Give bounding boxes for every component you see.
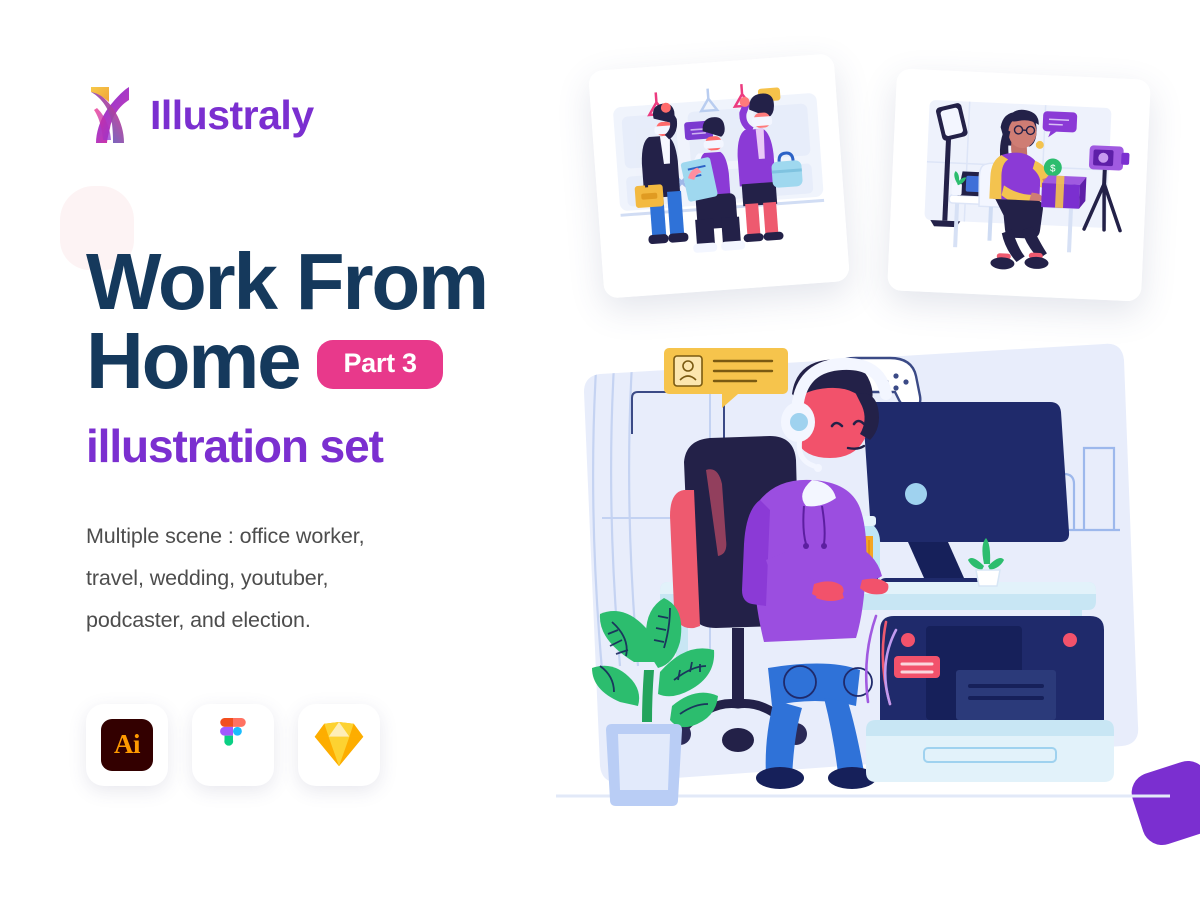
poster-canvas: Illustraly Work From Home Part 3 illustr… [0, 0, 1200, 900]
illustraly-logo-mark-icon [86, 84, 134, 146]
headline-line-2: Home [86, 321, 299, 400]
file-format-icons: Ai [86, 704, 556, 786]
description-text: Multiple scene : office worker, travel, … [86, 515, 486, 642]
svg-text:$: $ [1050, 163, 1056, 174]
main-illustration[interactable] [556, 330, 1170, 870]
format-tile-sketch[interactable] [298, 704, 380, 786]
description-line-2: travel, wedding, youtuber, [86, 566, 328, 590]
youtuber-scene-illustration: $ [887, 68, 1151, 301]
illustration-card-youtuber[interactable]: $ [887, 68, 1151, 301]
pc-tower [866, 616, 1114, 782]
format-tile-figma[interactable] [192, 704, 274, 786]
subheadline: illustration set [86, 422, 556, 470]
illustration-card-commute[interactable] [588, 53, 850, 298]
sketch-icon [313, 721, 365, 768]
description-line-3: podcaster, and election. [86, 608, 311, 632]
part-badge: Part 3 [317, 340, 442, 389]
page-title: Work From Home Part 3 [86, 242, 556, 400]
brand-lockup[interactable]: Illustraly [86, 84, 556, 146]
commute-scene-illustration [588, 53, 850, 298]
brand-name: Illustraly [150, 95, 314, 136]
format-tile-illustrator[interactable]: Ai [86, 704, 168, 786]
description-line-1: Multiple scene : office worker, [86, 524, 365, 548]
headline-line-2-row: Home Part 3 [86, 321, 556, 400]
hero-text-column: Illustraly Work From Home Part 3 illustr… [86, 84, 556, 786]
figma-icon [215, 718, 251, 771]
adobe-illustrator-icon: Ai [101, 719, 153, 771]
wfh-gamer-scene-illustration [556, 330, 1170, 870]
headline-line-1: Work From [86, 242, 556, 321]
illustrator-label: Ai [114, 729, 140, 760]
